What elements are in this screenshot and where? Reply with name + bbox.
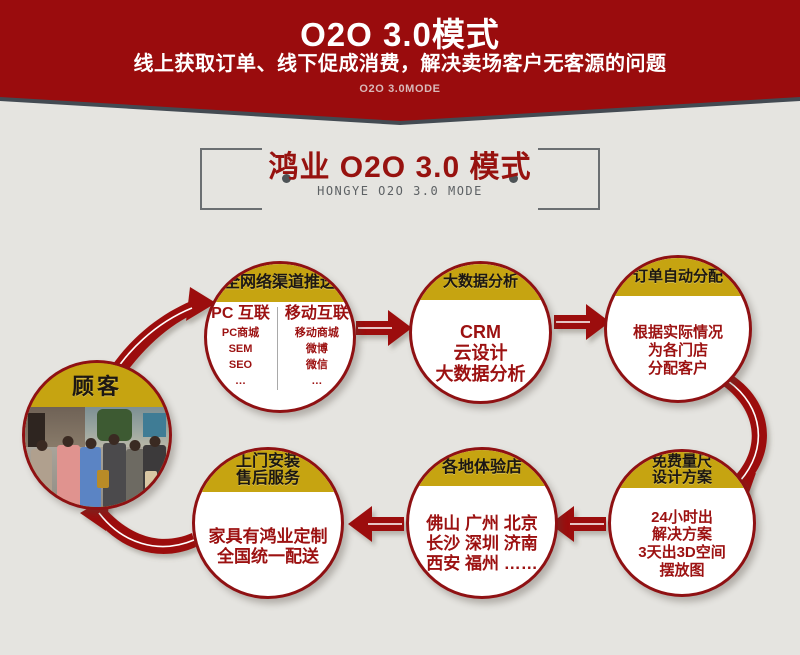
node-experience-stores-cap: 各地体验店 bbox=[409, 450, 555, 486]
node-channels-cap: 全网络渠道推送 bbox=[207, 264, 353, 302]
node-customer-cap: 顾客 bbox=[25, 363, 169, 411]
bigdata-line-3: 大数据分析 bbox=[436, 364, 526, 385]
free-measure-cap-line-2: 设计方案 bbox=[652, 470, 712, 486]
free-measure-line-1: 24小时出 bbox=[651, 509, 713, 527]
installation-cap-line-1: 上门安装 bbox=[236, 454, 300, 471]
banner-english: O2O 3.0MODE bbox=[0, 83, 800, 95]
channels-mobile-item-3: 微信 bbox=[285, 358, 349, 374]
arrow-bigdata-to-orders bbox=[554, 304, 610, 340]
free-measure-line-4: 摆放图 bbox=[659, 562, 704, 580]
channels-mobile-item-4: … bbox=[285, 374, 349, 390]
installation-line-2: 全国统一配送 bbox=[217, 547, 319, 567]
section-title-english: HONGYE O2O 3.0 MODE bbox=[200, 184, 600, 198]
arrow-measure-to-stores bbox=[550, 506, 606, 542]
node-installation-service-cap: 上门安装 售后服务 bbox=[195, 450, 341, 492]
installation-line-1: 家具有鸿业定制 bbox=[209, 527, 328, 547]
node-bigdata-body: CRM 云设计 大数据分析 bbox=[412, 300, 549, 404]
banner-subtitle: 线上获取订单、线下促成消费，解决卖场客户无客源的问题 bbox=[0, 47, 800, 76]
node-experience-stores-body: 佛山 广州 北京 长沙 深圳 济南 西安 福州 …… bbox=[409, 486, 555, 599]
section-title: 鸿业 O2O 3.0 模式 bbox=[200, 142, 600, 186]
node-channels[interactable]: 全网络渠道推送 PC 互联 PC商城 SEM SEO … 移动互联 移动商城 微… bbox=[204, 261, 356, 413]
channels-columns: PC 互联 PC商城 SEM SEO … 移动互联 移动商城 微博 微信 … bbox=[204, 305, 356, 390]
node-order-dispatch[interactable]: 订单自动分配 根据实际情况 为各门店 分配客户 bbox=[604, 255, 752, 403]
node-channels-body: PC 互联 PC商城 SEM SEO … 移动互联 移动商城 微博 微信 … bbox=[207, 302, 353, 413]
channels-mobile-head: 移动互联 bbox=[285, 305, 349, 324]
channels-pc-head: PC 互联 bbox=[211, 305, 270, 324]
channels-mobile-item-2: 微博 bbox=[285, 342, 349, 358]
channels-pc-item-1: PC商城 bbox=[211, 326, 270, 342]
customer-photo bbox=[25, 407, 169, 510]
free-measure-cap-line-1: 免费量尺 bbox=[652, 454, 712, 470]
channels-mobile-item-1: 移动商城 bbox=[285, 326, 349, 342]
node-installation-service-body: 家具有鸿业定制 全国统一配送 bbox=[195, 492, 341, 599]
free-measure-line-2: 解决方案 bbox=[652, 526, 712, 544]
node-free-measure-cap: 免费量尺 设计方案 bbox=[611, 452, 753, 488]
node-order-dispatch-cap: 订单自动分配 bbox=[607, 258, 749, 296]
channels-column-pc: PC 互联 PC商城 SEM SEO … bbox=[204, 305, 277, 390]
node-bigdata[interactable]: 大数据分析 CRM 云设计 大数据分析 bbox=[409, 261, 552, 404]
order-dispatch-line-2: 为各门店 bbox=[648, 342, 708, 360]
free-measure-line-3: 3天出3D空间 bbox=[638, 544, 726, 562]
page-root: O2O 3.0模式 线上获取订单、线下促成消费，解决卖场客户无客源的问题 O2O… bbox=[0, 0, 800, 655]
order-dispatch-line-1: 根据实际情况 bbox=[633, 324, 723, 342]
node-free-measure[interactable]: 免费量尺 设计方案 24小时出 解决方案 3天出3D空间 摆放图 bbox=[608, 449, 756, 597]
experience-stores-line-1: 佛山 广州 北京 bbox=[426, 514, 537, 534]
flow-diagram: 顾客 全网络渠道推送 PC 互联 bbox=[0, 225, 800, 640]
arrow-stores-to-install bbox=[348, 506, 404, 542]
bigdata-line-2: 云设计 bbox=[454, 343, 508, 364]
channels-pc-item-2: SEM bbox=[211, 342, 270, 358]
bigdata-line-1: CRM bbox=[460, 322, 501, 343]
experience-stores-line-3: 西安 福州 …… bbox=[426, 554, 537, 574]
node-free-measure-body: 24小时出 解决方案 3天出3D空间 摆放图 bbox=[611, 488, 753, 597]
order-dispatch-line-3: 分配客户 bbox=[648, 360, 708, 378]
installation-cap-line-2: 售后服务 bbox=[236, 471, 300, 488]
node-bigdata-cap: 大数据分析 bbox=[412, 264, 549, 300]
node-experience-stores[interactable]: 各地体验店 佛山 广州 北京 长沙 深圳 济南 西安 福州 …… bbox=[406, 447, 558, 599]
node-order-dispatch-body: 根据实际情况 为各门店 分配客户 bbox=[607, 296, 749, 403]
node-installation-service[interactable]: 上门安装 售后服务 家具有鸿业定制 全国统一配送 bbox=[192, 447, 344, 599]
channels-pc-item-4: … bbox=[211, 374, 270, 390]
experience-stores-line-2: 长沙 深圳 济南 bbox=[426, 534, 537, 554]
arrow-channels-to-bigdata bbox=[356, 310, 412, 346]
section-title-block: 鸿业 O2O 3.0 模式 HONGYE O2O 3.0 MODE bbox=[200, 142, 600, 214]
channels-column-mobile: 移动互联 移动商城 微博 微信 … bbox=[278, 305, 356, 390]
node-customer[interactable]: 顾客 bbox=[22, 360, 172, 510]
channels-pc-item-3: SEO bbox=[211, 358, 270, 374]
